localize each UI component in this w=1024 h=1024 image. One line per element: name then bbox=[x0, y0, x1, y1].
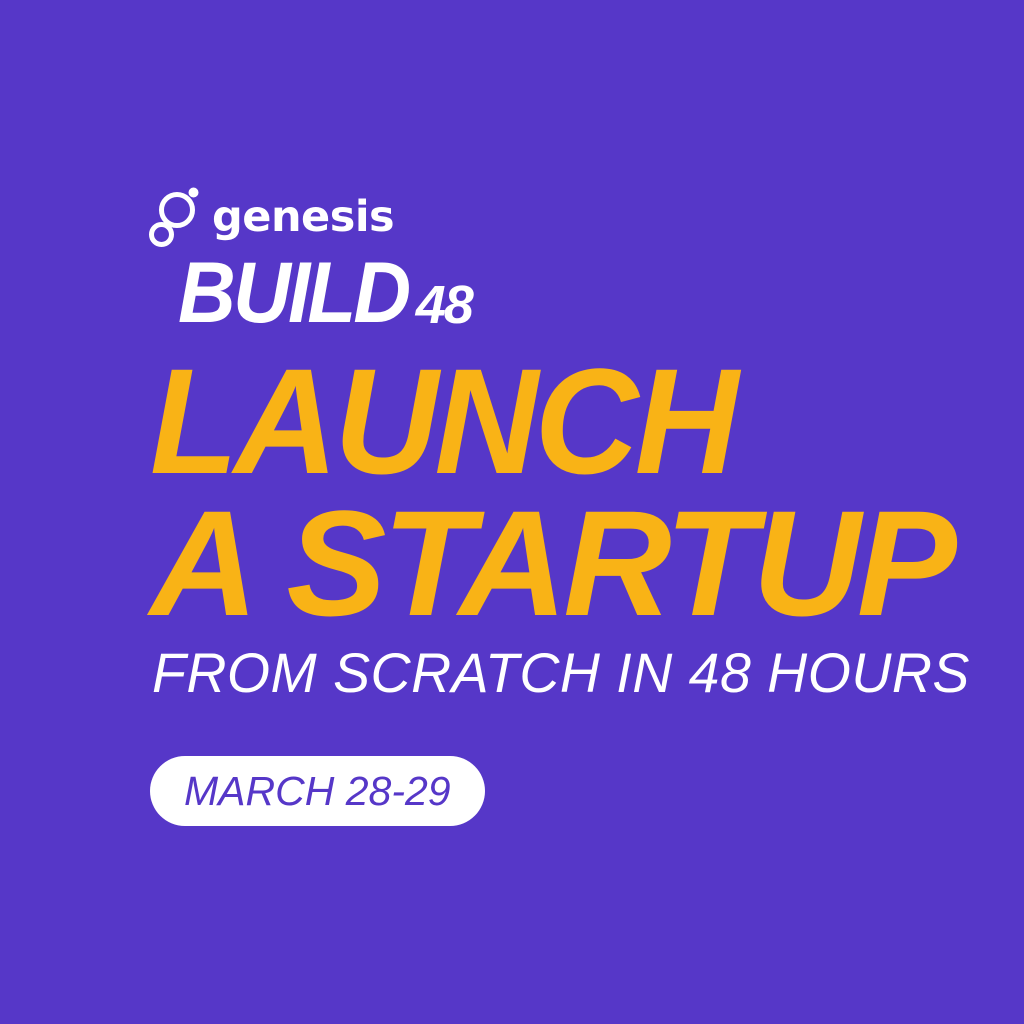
subtitle-text: FROM SCRATCH IN 48 HOURS bbox=[152, 645, 970, 701]
date-badge: MARCH 28-29 bbox=[150, 756, 485, 826]
product-wordmark-text: BUILD bbox=[178, 255, 408, 332]
brand-name-row: genesis bbox=[148, 186, 472, 248]
brand-lockup: genesis BUILD 48 bbox=[148, 186, 472, 332]
genesis-circles-logo-icon bbox=[148, 186, 200, 248]
product-wordmark: BUILD 48 bbox=[178, 254, 472, 332]
headline-line-2: A STARTUP bbox=[150, 494, 1010, 634]
date-badge-label: MARCH 28-29 bbox=[184, 771, 451, 812]
headline-line-1: LAUNCH bbox=[150, 352, 976, 492]
headline-block: LAUNCH A STARTUP bbox=[150, 352, 1010, 633]
brand-name-text: genesis bbox=[212, 196, 394, 239]
event-promo-poster: genesis BUILD 48 LAUNCH A STARTUP FROM S… bbox=[0, 0, 1024, 1024]
product-wordmark-number: 48 bbox=[416, 281, 472, 330]
